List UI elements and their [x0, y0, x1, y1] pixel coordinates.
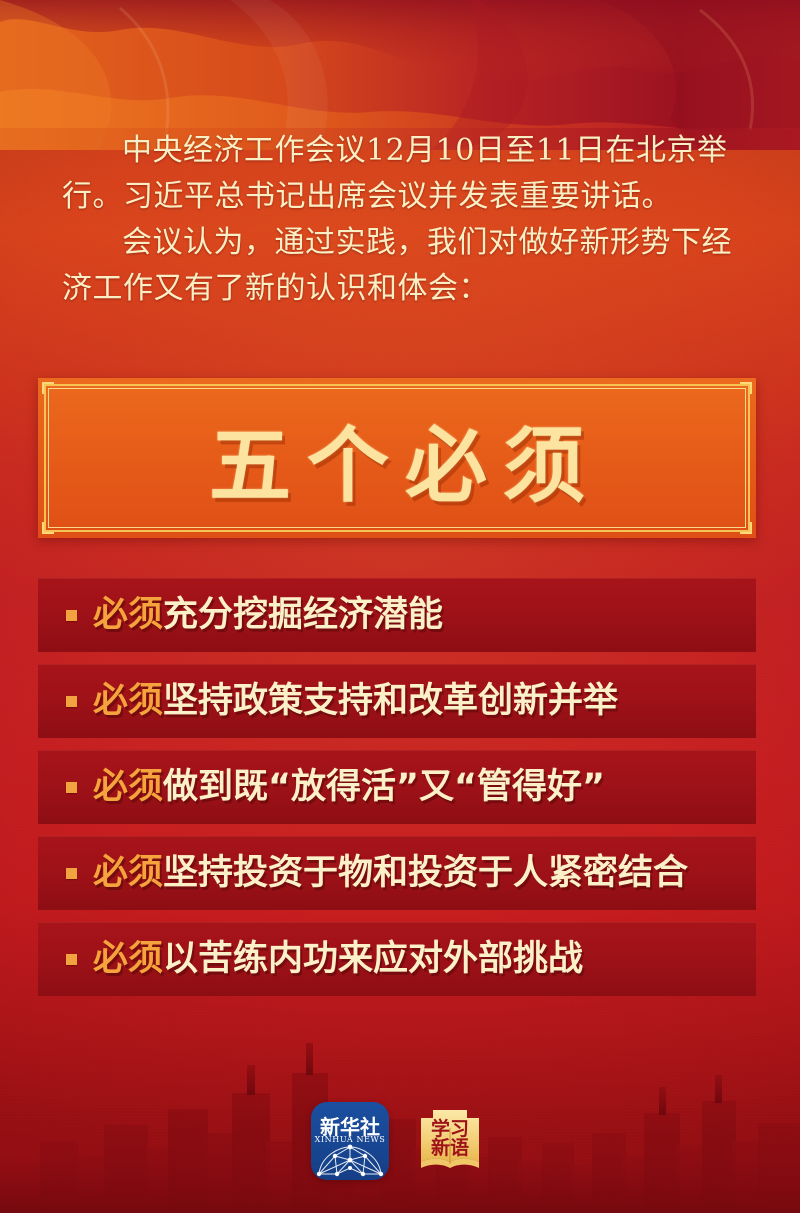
list-item-text: 必须以苦练内功来应对外部挑战 [93, 942, 583, 977]
list-item-rest: 以苦练内功来应对外部挑战 [163, 939, 583, 979]
open-book-emblem-icon: 学习 新语 [411, 1102, 489, 1180]
list-item: 必须坚持投资于物和投资于人紧密结合 [38, 836, 756, 910]
list-item-rest: 做到既“放得活”又“管得好” [163, 767, 605, 807]
xuexi-xinyu-logo: 学习 新语 [411, 1102, 489, 1180]
list-item-rest: 充分挖掘经济潜能 [163, 595, 443, 635]
list-item-prefix: 必须 [93, 595, 163, 635]
intro-paragraph-2: 会议认为，通过实践，我们对做好新形势下经济工作又有了新的认识和体会： [62, 220, 742, 312]
footer-logos: 新华社 XINHUA NEWS [0, 1098, 800, 1184]
list-item-text: 必须充分挖掘经济潜能 [93, 598, 443, 633]
bullet-square-icon [66, 782, 77, 793]
poster-root: 中央经济工作会议12月10日至11日在北京举行。习近平总书记出席会议并发表重要讲… [0, 0, 800, 1213]
list-item-prefix: 必须 [93, 939, 163, 979]
list-item-prefix: 必须 [93, 853, 163, 893]
title-banner: 五个必须 [38, 378, 756, 538]
list-item-prefix: 必须 [93, 767, 163, 807]
bullet-square-icon [66, 610, 77, 621]
list-item-text: 必须坚持政策支持和改革创新并举 [93, 684, 618, 719]
intro-text-block: 中央经济工作会议12月10日至11日在北京举行。习近平总书记出席会议并发表重要讲… [62, 128, 742, 312]
list-item-text: 必须做到既“放得活”又“管得好” [93, 770, 605, 805]
list-item: 必须做到既“放得活”又“管得好” [38, 750, 756, 824]
must-list: 必须充分挖掘经济潜能 必须坚持政策支持和改革创新并举 必须做到既“放得活”又“管… [38, 578, 756, 1008]
list-item-rest: 坚持投资于物和投资于人紧密结合 [163, 853, 688, 893]
page-title: 五个必须 [38, 378, 756, 538]
list-item: 必须充分挖掘经济潜能 [38, 578, 756, 652]
list-item-rest: 坚持政策支持和改革创新并举 [163, 681, 618, 721]
xueyu-logo-line2: 新语 [431, 1136, 469, 1159]
bullet-square-icon [66, 868, 77, 879]
list-item: 必须坚持政策支持和改革创新并举 [38, 664, 756, 738]
bullet-square-icon [66, 696, 77, 707]
list-item-text: 必须坚持投资于物和投资于人紧密结合 [93, 856, 688, 891]
list-item-prefix: 必须 [93, 681, 163, 721]
intro-paragraph-1: 中央经济工作会议12月10日至11日在北京举行。习近平总书记出席会议并发表重要讲… [62, 128, 742, 220]
bullet-square-icon [66, 954, 77, 965]
xinhua-news-logo: 新华社 XINHUA NEWS [311, 1102, 389, 1180]
network-globe-icon [311, 1142, 389, 1178]
list-item: 必须以苦练内功来应对外部挑战 [38, 922, 756, 996]
